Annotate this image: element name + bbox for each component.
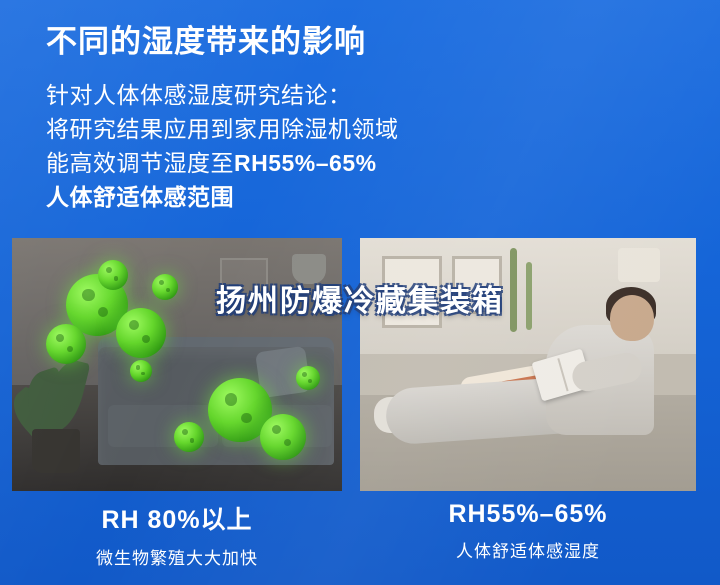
body-line-3: 能高效调节湿度至RH55%–65% bbox=[46, 146, 399, 180]
floor-lamp-icon bbox=[292, 254, 326, 284]
wall-picture-frame bbox=[452, 256, 502, 314]
body-line-1: 针对人体体感湿度研究结论： bbox=[46, 78, 399, 112]
germ-icon bbox=[260, 414, 306, 460]
germ-icon bbox=[174, 422, 204, 452]
wall-picture-frame bbox=[220, 258, 268, 296]
poster-root: 不同的湿度带来的影响 针对人体体感湿度研究结论： 将研究结果应用到家用除湿机领域… bbox=[0, 0, 720, 585]
lounge-scene bbox=[360, 238, 696, 491]
photo-left-germs bbox=[12, 238, 342, 491]
caption-left: RH 80%以上 微生物繁殖大大加快 bbox=[12, 500, 342, 569]
germ-icon bbox=[98, 260, 128, 290]
caption-right-title: RH55%–65% bbox=[360, 500, 696, 529]
germ-icon bbox=[152, 274, 178, 300]
caption-right: RH55%–65% 人体舒适体感湿度 bbox=[360, 500, 696, 562]
body-line-2: 将研究结果应用到家用除湿机领域 bbox=[46, 112, 399, 146]
page-title: 不同的湿度带来的影响 bbox=[46, 16, 366, 61]
plant-stalk bbox=[526, 262, 532, 330]
caption-left-title: RH 80%以上 bbox=[12, 500, 342, 536]
lamp-shade bbox=[618, 248, 660, 282]
body-line-3-highlight: RH55%–65% bbox=[234, 150, 377, 176]
caption-left-subtitle: 微生物繁殖大大加快 bbox=[12, 544, 342, 569]
person-head bbox=[610, 295, 654, 341]
germ-icon bbox=[46, 324, 86, 364]
germ-icon bbox=[116, 308, 166, 358]
germ-icon bbox=[130, 360, 152, 382]
body-copy: 针对人体体感湿度研究结论： 将研究结果应用到家用除湿机领域 能高效调节湿度至RH… bbox=[46, 78, 399, 214]
photo-right-comfort bbox=[360, 238, 696, 491]
room-scene bbox=[12, 238, 342, 491]
germ-icon bbox=[296, 366, 320, 390]
plant-stalk bbox=[510, 248, 517, 332]
caption-right-subtitle: 人体舒适体感湿度 bbox=[360, 537, 696, 562]
body-line-3-plain: 能高效调节湿度至 bbox=[46, 150, 234, 176]
photo-row bbox=[0, 238, 720, 491]
body-line-4: 人体舒适体感范围 bbox=[46, 180, 399, 214]
wall-picture-frame bbox=[382, 256, 442, 328]
plant-pot bbox=[32, 429, 80, 473]
